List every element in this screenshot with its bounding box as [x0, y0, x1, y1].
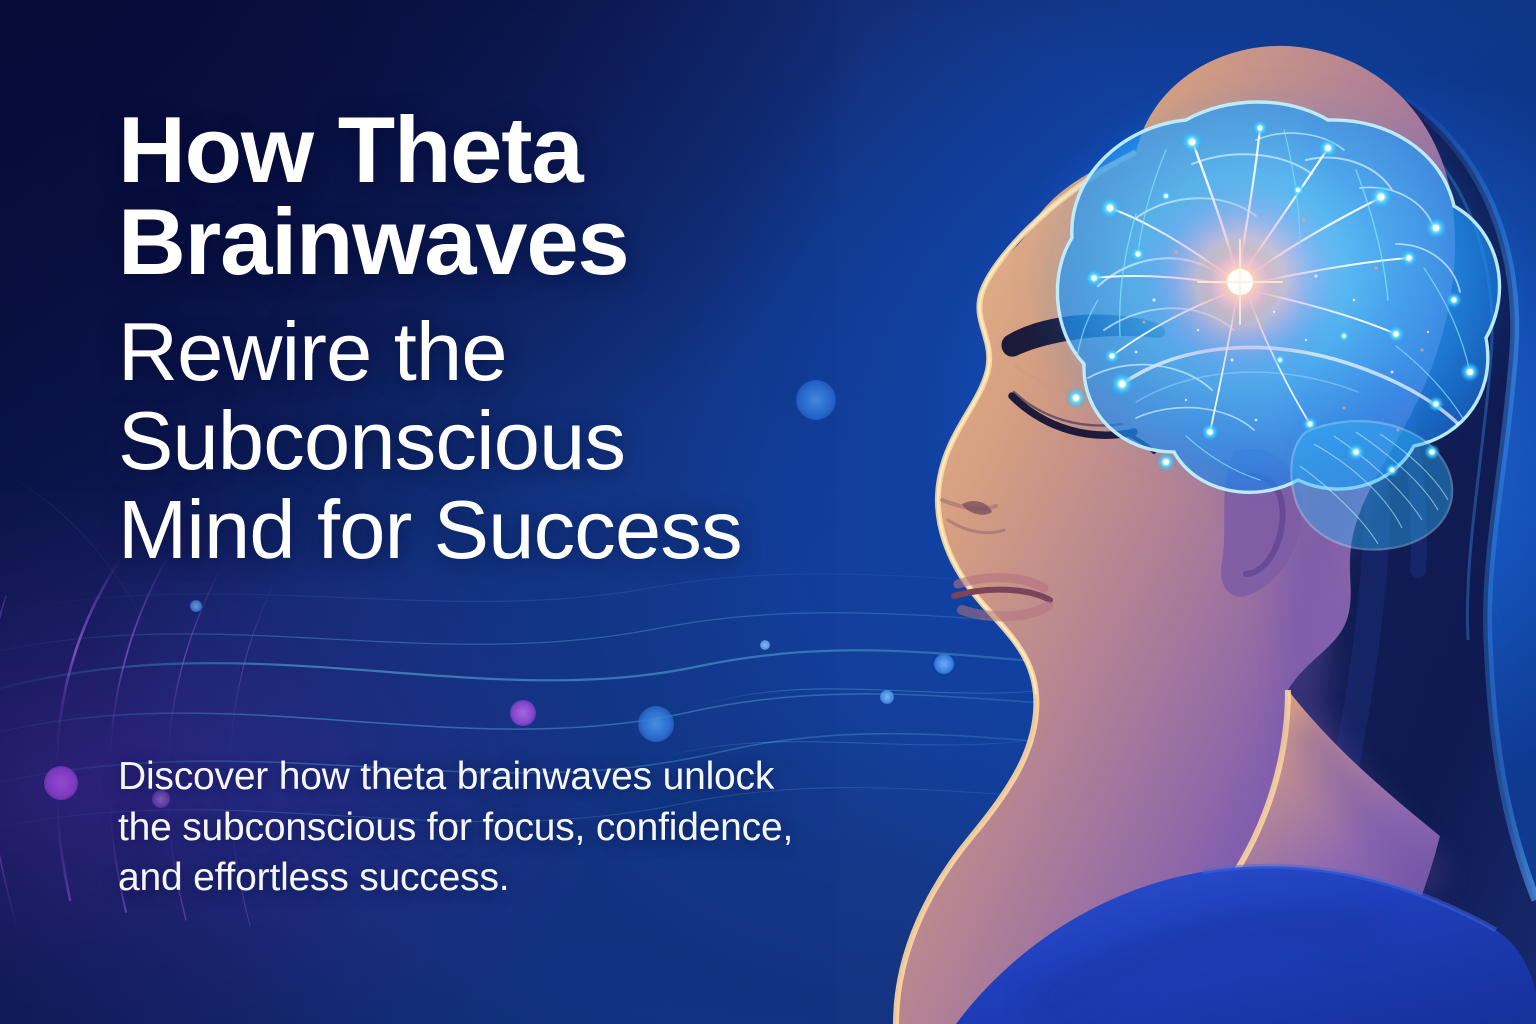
page-subtitle: Rewire the Subconscious Mind for Success: [118, 308, 918, 574]
headline-block: How Theta Brainwaves Rewire the Subconsc…: [118, 104, 918, 575]
description-line-3: and effortless success.: [118, 853, 998, 904]
description-line-1: Discover how theta brainwaves unlock: [118, 752, 998, 803]
title-line-2: Brainwaves: [118, 196, 918, 288]
subtitle-line-1: Rewire the: [118, 308, 918, 397]
subtitle-line-3: Mind for Success: [118, 486, 918, 575]
hero-banner: How Theta Brainwaves Rewire the Subconsc…: [0, 0, 1536, 1024]
page-title: How Theta Brainwaves: [118, 104, 918, 288]
title-line-1: How Theta: [118, 104, 918, 196]
description-text: Discover how theta brainwaves unlock the…: [118, 752, 998, 904]
subtitle-line-2: Subconscious: [118, 397, 918, 486]
description-line-2: the subconscious for focus, confidence,: [118, 803, 998, 854]
